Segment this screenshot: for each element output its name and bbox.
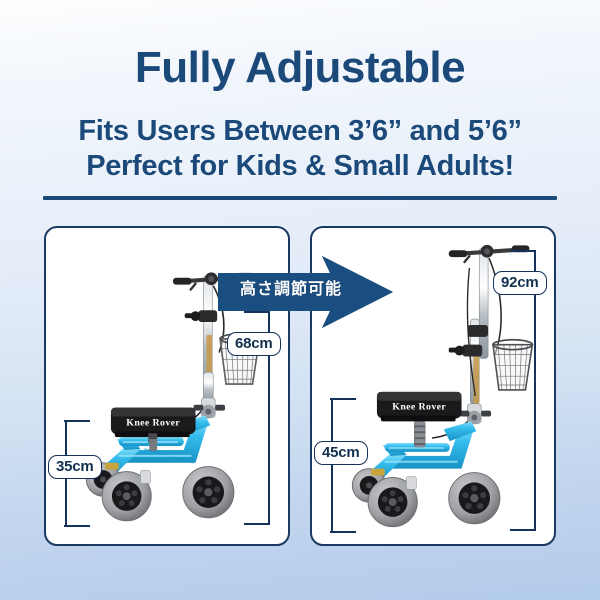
dim-cap-bottom-45	[330, 531, 356, 533]
subtitle-line-2: Perfect for Kids & Small Adults!	[0, 149, 600, 184]
svg-text:Knee Rover: Knee Rover	[392, 402, 446, 413]
subtitle: Fits Users Between 3’6” and 5’6” Perfect…	[0, 114, 600, 185]
header: Fully Adjustable Fits Users Between 3’6”…	[0, 0, 600, 185]
promo-banner: Fully Adjustable Fits Users Between 3’6”…	[0, 0, 600, 600]
dimension-badge-45cm: 45cm	[314, 441, 368, 465]
header-divider	[43, 196, 557, 200]
dimension-badge-68cm: 68cm	[227, 332, 281, 356]
dim-cap-bottom-92	[510, 529, 536, 531]
height-adjustable-banner: 高さ調節可能	[218, 256, 393, 328]
dim-cap-top-45	[330, 398, 356, 400]
dim-cap-top-92	[510, 250, 536, 252]
subtitle-line-1: Fits Users Between 3’6” and 5’6”	[0, 114, 600, 149]
page-title: Fully Adjustable	[0, 46, 600, 90]
svg-text:Knee Rover: Knee Rover	[126, 417, 180, 428]
dim-cap-bottom-35	[64, 525, 90, 527]
dim-cap-bottom-68	[244, 523, 270, 525]
dimension-badge-35cm: 35cm	[48, 455, 102, 479]
dimension-badge-92cm: 92cm	[493, 271, 547, 295]
dim-cap-top-35	[64, 420, 90, 422]
dim-line-45cm	[331, 398, 333, 532]
banner-label: 高さ調節可能	[240, 275, 342, 299]
